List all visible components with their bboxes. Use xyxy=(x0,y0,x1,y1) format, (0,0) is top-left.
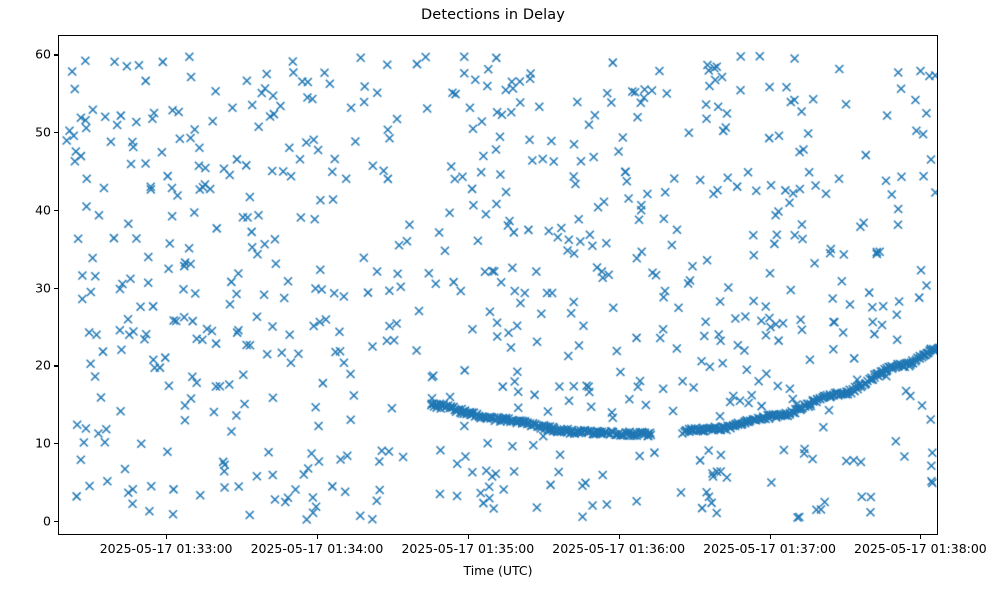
y-tick-label: 40 xyxy=(7,202,51,217)
x-tick-label: 2025-05-17 01:37:00 xyxy=(670,541,870,556)
plot-area xyxy=(58,35,938,535)
x-tick-label: 2025-05-17 01:34:00 xyxy=(217,541,417,556)
x-axis-label: Time (UTC) xyxy=(58,563,938,578)
x-tick-label: 2025-05-17 01:36:00 xyxy=(519,541,719,556)
x-tick-label: 2025-05-17 01:35:00 xyxy=(368,541,568,556)
x-tick-mark xyxy=(619,535,620,539)
figure-canvas: Detections in Delay Bistatic Delay (km) … xyxy=(0,0,986,590)
x-tick-mark xyxy=(468,535,469,539)
x-tick-label: 2025-05-17 01:38:00 xyxy=(820,541,986,556)
y-tick-label: 50 xyxy=(7,125,51,140)
y-tick-label: 60 xyxy=(7,47,51,62)
x-tick-mark xyxy=(770,535,771,539)
y-tick-label: 30 xyxy=(7,280,51,295)
y-tick-label: 0 xyxy=(7,514,51,529)
scatter-plot-canvas xyxy=(59,36,938,535)
x-tick-label: 2025-05-17 01:33:00 xyxy=(66,541,266,556)
y-tick-label: 10 xyxy=(7,436,51,451)
x-tick-mark xyxy=(166,535,167,539)
x-tick-mark xyxy=(317,535,318,539)
x-tick-mark xyxy=(920,535,921,539)
y-tick-label: 20 xyxy=(7,358,51,373)
page-title: Detections in Delay xyxy=(0,7,986,23)
